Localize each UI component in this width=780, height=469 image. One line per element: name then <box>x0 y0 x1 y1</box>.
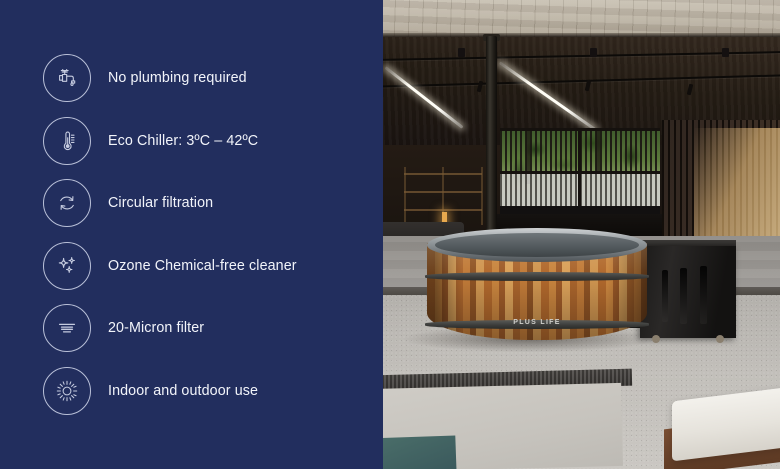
window-frame <box>578 128 581 218</box>
shelf-post <box>481 167 483 225</box>
refresh-circle-icon <box>43 179 91 227</box>
panel-edge <box>380 0 383 469</box>
pool-corner <box>382 435 457 469</box>
hot-tub-interior-photo: PLUS LIFE <box>382 0 780 469</box>
tub-brand-logo: PLUS LIFE <box>427 319 647 326</box>
chimney-pipe <box>486 36 497 246</box>
feature-list: No plumbing required Eco Chiller: 3ºC – … <box>0 0 382 469</box>
feature-item-no-plumbing[interactable]: No plumbing required <box>43 54 247 102</box>
light-wood-ceiling <box>382 0 780 37</box>
black-chiller-unit <box>640 246 736 338</box>
feature-item-eco-chiller[interactable]: Eco Chiller: 3ºC – 42ºC <box>43 117 258 165</box>
tub-metal-band <box>425 272 649 281</box>
sparkles-icon <box>43 242 91 290</box>
chiller-vent <box>680 268 687 324</box>
chiller-caster <box>716 335 724 343</box>
chiller-caster <box>652 335 660 343</box>
feature-panel: No plumbing required Eco Chiller: 3ºC – … <box>0 0 382 469</box>
feature-label: Indoor and outdoor use <box>108 383 258 399</box>
promo-screenshot: No plumbing required Eco Chiller: 3ºC – … <box>0 0 780 469</box>
track-mount <box>722 48 729 57</box>
feature-item-indoor-outdoor[interactable]: Indoor and outdoor use <box>43 367 258 415</box>
tub-water-surface <box>435 233 639 257</box>
thermometer-icon <box>43 117 91 165</box>
feature-label: Circular filtration <box>108 195 213 211</box>
wooden-barrel-hot-tub[interactable]: PLUS LIFE <box>427 228 647 344</box>
track-mount <box>590 48 597 57</box>
faucet-icon <box>43 54 91 102</box>
feature-label: Ozone Chemical-free cleaner <box>108 258 297 274</box>
track-mount <box>458 48 465 57</box>
chiller-vent <box>662 270 668 322</box>
feature-item-circular-filtration[interactable]: Circular filtration <box>43 179 213 227</box>
feature-label: Eco Chiller: 3ºC – 42ºC <box>108 133 258 149</box>
sun-icon <box>43 367 91 415</box>
window-sill <box>500 206 660 214</box>
feature-item-ozone-cleaner[interactable]: Ozone Chemical-free cleaner <box>43 242 297 290</box>
shelf-post <box>404 167 406 225</box>
feature-label: 20-Micron filter <box>108 320 204 336</box>
chiller-vent <box>700 266 707 324</box>
feature-label: No plumbing required <box>108 70 247 86</box>
feature-item-micron-filter[interactable]: 20-Micron filter <box>43 304 204 352</box>
filter-lines-icon <box>43 304 91 352</box>
